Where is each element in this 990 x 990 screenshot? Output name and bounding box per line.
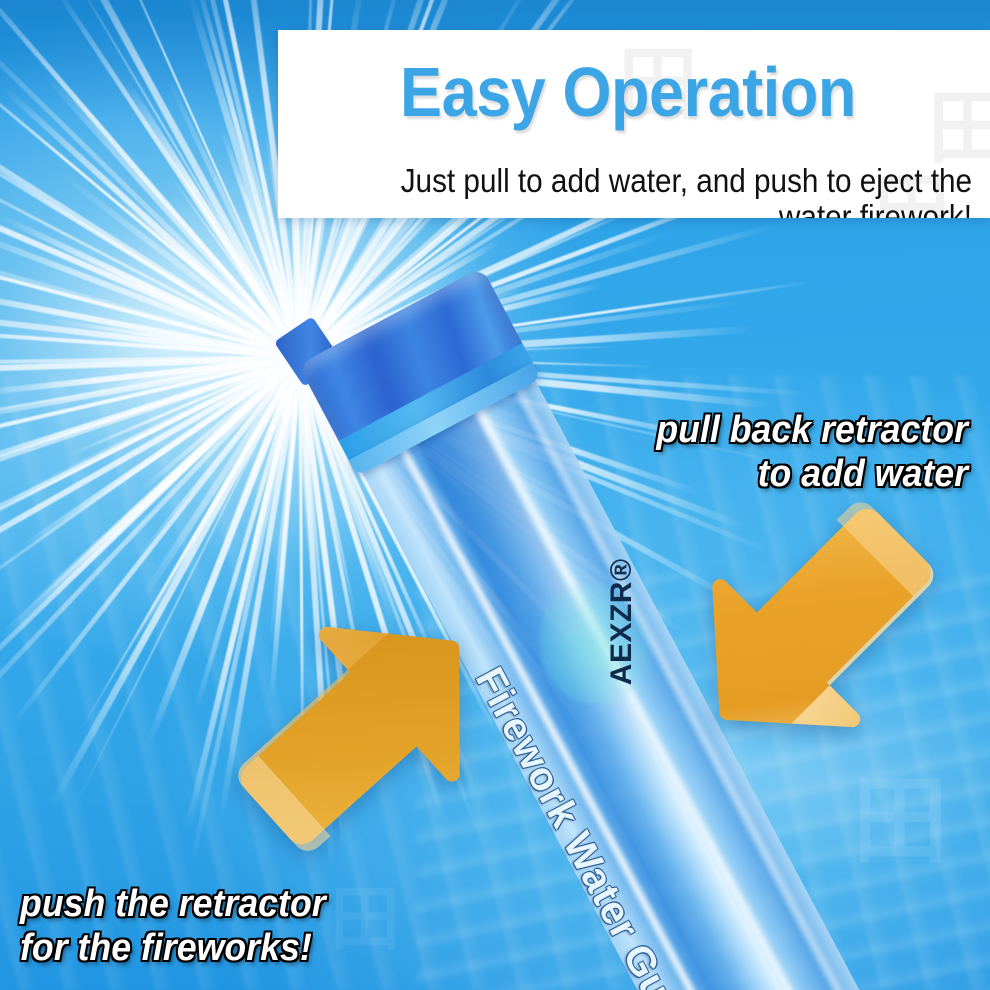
product-advertisement-image: 田 田 AEXZR® Firework Water Gun [0,0,990,990]
page-title: Easy Operation [313,56,943,128]
push-direction-arrow [234,604,490,866]
callout-pull-back-retractor: pull back retractor to add water [618,408,968,496]
brand-name-text: AEXZR® [605,558,639,685]
page-subtitle: Just pull to add water, and push to ejec… [371,163,972,218]
pull-direction-arrow [686,492,938,750]
header-text-card: 田 田 田 Easy Operation Just pull to add wa… [278,30,990,218]
callout-push-retractor: push the retractor for the fireworks! [20,882,370,970]
